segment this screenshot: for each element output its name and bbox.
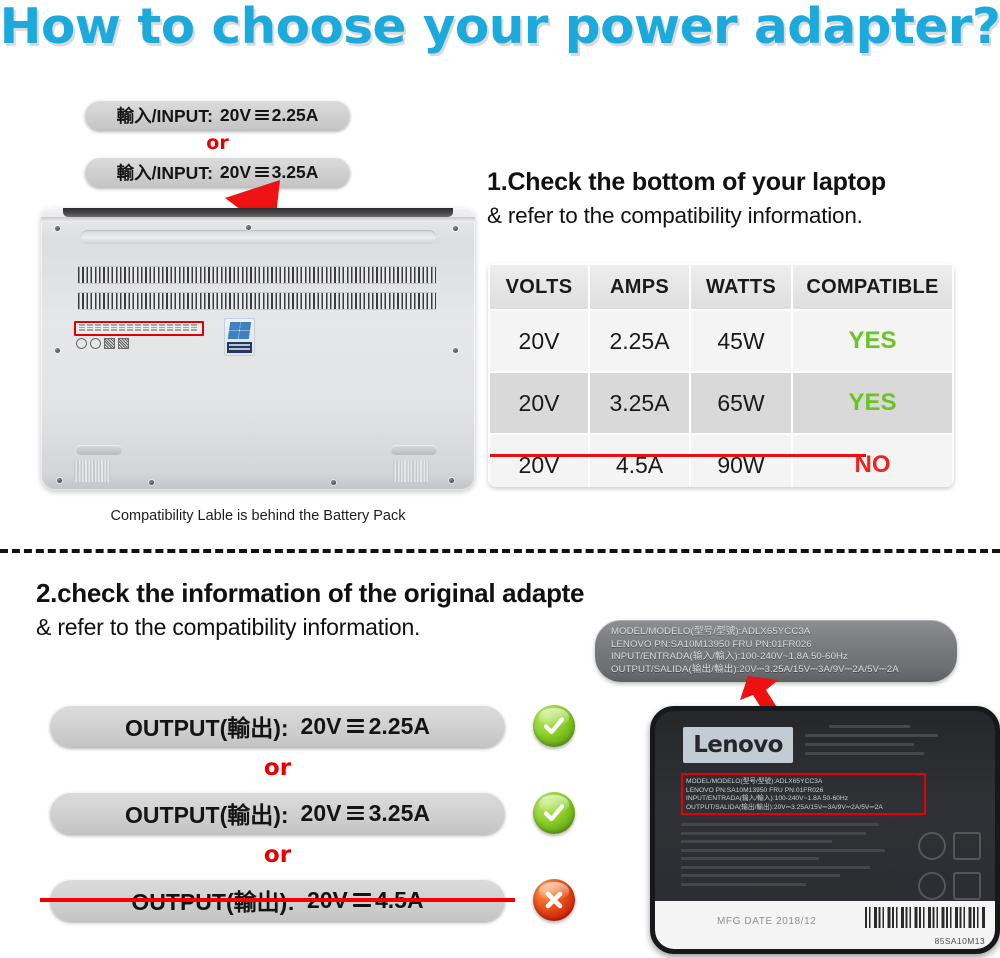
lenovo-wordmark: Lenovo <box>693 732 783 758</box>
adapter-line-model: MODEL/MODELO(型号/型號):ADLX65YCC3A <box>686 778 924 787</box>
screw-hole <box>449 478 454 483</box>
dc-symbol-icon <box>255 167 269 178</box>
input-pill-1: 輸入/INPUT: 20V 2.25A <box>85 100 350 130</box>
dc-symbol-icon <box>255 110 269 121</box>
table-header-row: VOLTS AMPS WATTS COMPATIBLE <box>490 265 952 309</box>
dc-symbol-icon <box>347 719 365 733</box>
laptop-hinge-lip <box>41 217 475 222</box>
screw-hole <box>149 480 154 485</box>
green-check-circle-icon <box>533 705 575 747</box>
cell-amps: 2.25A <box>590 311 689 371</box>
page-title: How to choose your power adapter? <box>0 0 1000 58</box>
adapter-fine-print-top <box>805 725 975 777</box>
callout-line-pn: LENOVO PN:SA10M13950 FRU PN:01FR026 <box>611 639 957 652</box>
column-header-watts: WATTS <box>691 265 791 309</box>
green-check-circle-icon <box>533 792 575 834</box>
lenovo-logo: Lenovo <box>683 727 793 763</box>
adapter-fine-print-body <box>681 823 896 901</box>
column-header-compatible: COMPATIBLE <box>793 265 952 309</box>
red-x-circle-icon <box>533 879 575 921</box>
adapter-bottom-strip: MFG DATE 2018/12 85SA10M13 <box>655 901 995 949</box>
laptop-bottom-photo <box>33 198 483 498</box>
laptop-vent-row-2 <box>78 292 436 310</box>
mfg-date-text: MFG DATE 2018/12 <box>717 916 816 927</box>
output-pill-2-volts: 20V <box>301 800 342 827</box>
adapter-spec-highlight-box: MODEL/MODELO(型号/型號):ADLX65YCC3A LENOVO P… <box>681 773 926 815</box>
rubber-foot <box>391 445 437 455</box>
section-divider <box>0 549 1000 553</box>
cell-watts: 45W <box>691 311 791 371</box>
output-pill-1: OUTPUT(輸出): 20V 2.25A <box>50 705 505 747</box>
rubber-foot <box>76 445 122 455</box>
output-pill-2: OUTPUT(輸出): 20V 3.25A <box>50 792 505 834</box>
windows-sticker-text <box>227 342 252 353</box>
certification-marks <box>76 338 132 349</box>
cell-compatible: YES <box>793 311 952 371</box>
column-header-amps: AMPS <box>590 265 689 309</box>
table-row: 20V 4.5A 90W NO <box>490 435 952 487</box>
barcode-icon <box>865 907 985 928</box>
section-1-heading: 1.Check the bottom of your laptop <box>487 168 886 197</box>
screw-hole <box>55 226 60 231</box>
column-header-volts: VOLTS <box>490 265 588 309</box>
output-pill-2-label: OUTPUT(輸出): <box>125 796 289 830</box>
table-row: 20V 3.25A 65W YES <box>490 373 952 433</box>
laptop-vent-row-1 <box>78 266 436 284</box>
or-label-2: or <box>50 839 505 871</box>
dc-symbol-icon <box>347 806 365 820</box>
cell-compatible: YES <box>793 373 952 433</box>
cell-amps: 3.25A <box>590 373 689 433</box>
laptop-vent-strip <box>81 230 436 244</box>
callout-line-model: MODEL/MODELO(型号/型號):ADLX65YCC3A <box>611 626 957 639</box>
screw-hole <box>55 348 60 353</box>
screw-hole <box>57 478 62 483</box>
callout-line-input: INPUT/ENTRADA(输入/輸入):100-240V~1.8A 50-60… <box>611 651 957 664</box>
screw-hole <box>453 226 458 231</box>
cell-volts: 20V <box>490 373 588 433</box>
section-2-heading: 2.check the information of the original … <box>36 578 584 609</box>
adapter-spec-callout: MODEL/MODELO(型号/型號):ADLX65YCC3A LENOVO P… <box>595 620 957 682</box>
input-pill-1-label: 輸入/INPUT: <box>117 103 213 128</box>
row-strikethrough-line <box>490 454 866 457</box>
lenovo-adapter-photo: Lenovo MODEL/MODELO(型号/型號):ADLX65YCC3A L… <box>650 706 1000 954</box>
windows-logo-sticker <box>224 318 255 356</box>
section-2-subheading: & refer to the compatibility information… <box>36 614 420 641</box>
adapter-line-output: OUTPUT/SALIDA(输出/輸出):20V⎓3.25A/15V⎓3A/9V… <box>686 804 924 813</box>
compatibility-label-highlight-box <box>74 321 204 336</box>
adapter-line-input: INPUT/ENTRADA(输入/輸入):100-240V~1.8A 50-60… <box>686 795 924 804</box>
or-label-1: or <box>50 752 505 784</box>
laptop-caption: Compatibility Lable is behind the Batter… <box>33 508 483 524</box>
output-pill-1-amps: 2.25A <box>369 713 430 740</box>
input-pill-1-amps: 2.25A <box>272 105 319 126</box>
cell-amps: 4.5A <box>590 435 689 487</box>
screw-hole <box>331 480 336 485</box>
output-pill-3-strikethrough <box>40 898 515 902</box>
barcode-text: 85SA10M13 <box>935 936 985 946</box>
callout-line-output: OUTPUT/SALIDA(输出/輸出):20V⎓3.25A/15V⎓3A/9V… <box>611 664 957 677</box>
cell-volts: 20V <box>490 311 588 371</box>
adapter-certification-logos <box>889 829 981 903</box>
windows-logo-icon <box>228 322 251 339</box>
compatibility-table: VOLTS AMPS WATTS COMPATIBLE 20V 2.25A 45… <box>488 263 954 487</box>
input-pill-1-volts: 20V <box>220 105 251 126</box>
laptop-chassis <box>41 208 475 490</box>
cell-watts: 65W <box>691 373 791 433</box>
screw-hole <box>453 348 458 353</box>
output-pill-1-label: OUTPUT(輸出): <box>125 709 289 743</box>
speaker-grille <box>393 460 429 482</box>
or-label-top: or <box>85 131 350 155</box>
section-1-subheading: & refer to the compatibility information… <box>487 203 863 229</box>
speaker-grille <box>74 460 110 482</box>
cell-compatible: NO <box>793 435 952 487</box>
cell-watts: 90W <box>691 435 791 487</box>
table-row: 20V 2.25A 45W YES <box>490 311 952 371</box>
screw-hole <box>246 225 251 230</box>
output-pill-2-amps: 3.25A <box>369 800 430 827</box>
cell-volts: 20V <box>490 435 588 487</box>
adapter-line-pn: LENOVO PN:SA10M13950 FRU PN:01FR026 <box>686 787 924 796</box>
output-pill-1-volts: 20V <box>301 713 342 740</box>
laptop-hinge <box>63 208 453 217</box>
